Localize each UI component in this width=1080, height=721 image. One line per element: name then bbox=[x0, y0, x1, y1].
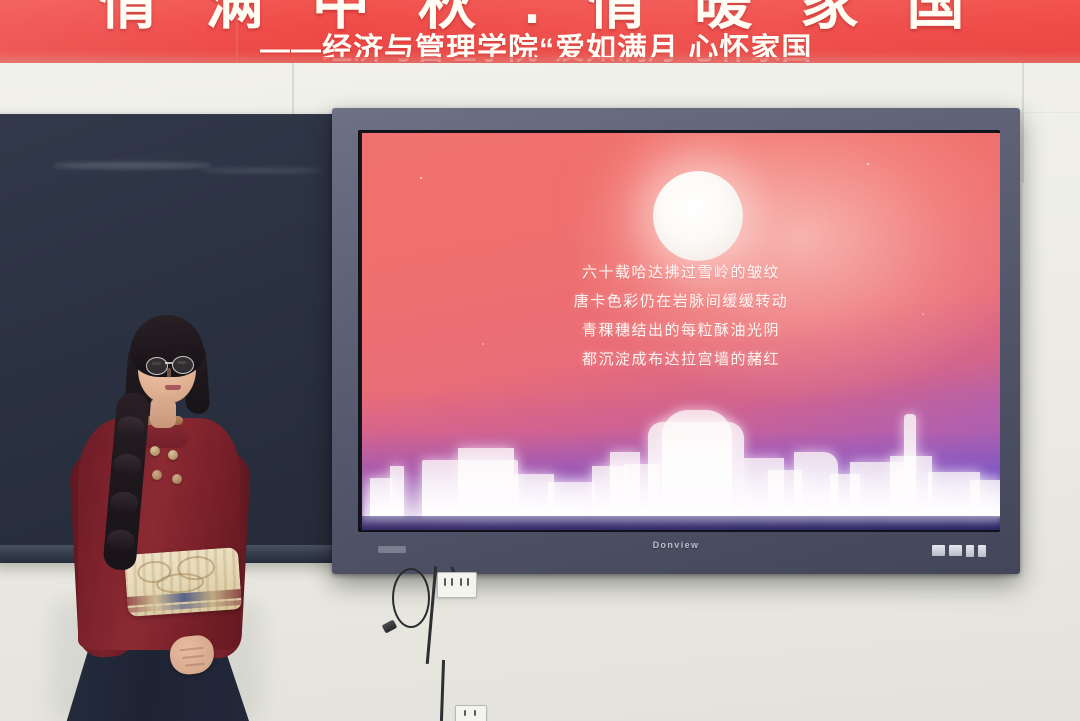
slide-star bbox=[867, 163, 869, 165]
presenter-frog-button bbox=[172, 474, 182, 484]
presentation-slide[interactable]: 六十载哈达拂过雪岭的皱纹 唐卡色彩仍在岩脉间缓缓转动 青稞穗结出的每粒酥油光阴 … bbox=[362, 133, 1000, 530]
potala-palace-skyline bbox=[362, 390, 1000, 530]
presenter-mouth bbox=[165, 385, 181, 390]
presenter-apron bbox=[124, 547, 242, 617]
poem-line: 青稞穗结出的每粒酥油光阴 bbox=[362, 316, 1000, 345]
hanging-cable-loop bbox=[392, 568, 430, 628]
presenter-frog-button bbox=[150, 446, 160, 456]
banner-bottom-edge bbox=[0, 57, 1080, 63]
socket-slot bbox=[474, 710, 476, 716]
socket-slot bbox=[444, 578, 446, 586]
glasses-bridge bbox=[165, 362, 173, 364]
display-port[interactable] bbox=[932, 545, 945, 556]
classroom-scene: 情 满 中 秋 . 情 暖 家 国 ——经济与管理学院“爱如满月 心怀家国 六十… bbox=[0, 0, 1080, 721]
chalk-smear bbox=[202, 168, 322, 173]
display-port[interactable] bbox=[966, 545, 974, 557]
event-banner: 情 满 中 秋 . 情 暖 家 国 ——经济与管理学院“爱如满月 心怀家国 bbox=[0, 0, 1080, 63]
display-port[interactable] bbox=[978, 545, 986, 557]
socket-slot bbox=[467, 578, 469, 586]
poem-line: 唐卡色彩仍在岩脉间缓缓转动 bbox=[362, 287, 1000, 316]
glasses-lens-right bbox=[172, 356, 194, 374]
presenter-frog-button bbox=[152, 470, 162, 480]
wall-socket-upper[interactable] bbox=[437, 572, 477, 598]
full-moon-icon bbox=[653, 171, 743, 261]
display-port[interactable] bbox=[949, 545, 962, 556]
finger-line bbox=[182, 655, 204, 659]
slide-poem: 六十载哈达拂过雪岭的皱纹 唐卡色彩仍在岩脉间缓缓转动 青稞穗结出的每粒酥油光阴 … bbox=[362, 258, 1000, 374]
finger-line bbox=[185, 663, 205, 667]
socket-slot bbox=[451, 578, 453, 586]
glasses-lens-left bbox=[146, 357, 168, 375]
chalk-smear bbox=[52, 162, 212, 169]
presenter-frog-button bbox=[168, 450, 178, 460]
slide-floor-strip bbox=[362, 516, 1000, 530]
poem-line: 都沉淀成布达拉宫墙的赭红 bbox=[362, 345, 1000, 374]
finger-line bbox=[179, 647, 203, 651]
wall-seam-vertical-right bbox=[1022, 63, 1024, 183]
socket-slot bbox=[464, 710, 466, 716]
display-port-cluster[interactable] bbox=[932, 545, 1004, 559]
poem-line: 六十载哈达拂过雪岭的皱纹 bbox=[362, 258, 1000, 287]
braid-knot bbox=[116, 415, 146, 439]
display-brand-label: Donview bbox=[332, 540, 1020, 550]
braid-knot bbox=[106, 529, 136, 553]
wall-seam-vertical bbox=[292, 63, 294, 119]
interactive-smart-display[interactable]: 六十载哈达拂过雪岭的皱纹 唐卡色彩仍在岩脉间缓缓转动 青稞穗结出的每粒酥油光阴 … bbox=[332, 108, 1020, 574]
slide-star bbox=[420, 177, 422, 179]
presenter-nose bbox=[167, 368, 171, 378]
wall-socket-lower[interactable] bbox=[455, 705, 487, 721]
braid-knot bbox=[109, 491, 139, 515]
socket-slot bbox=[460, 578, 462, 586]
braid-knot bbox=[112, 453, 142, 477]
